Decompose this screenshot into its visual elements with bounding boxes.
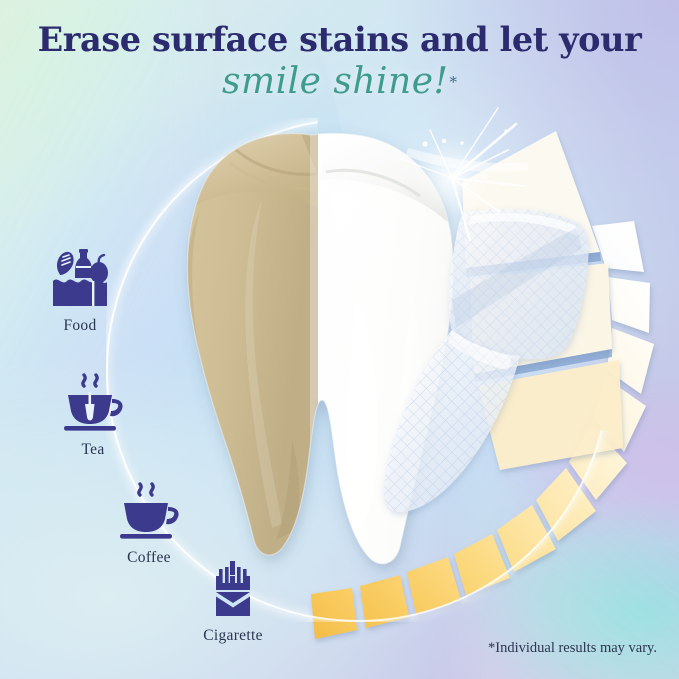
headline-asterisk: * — [450, 73, 458, 91]
food-icon — [49, 248, 111, 308]
tea-icon — [60, 370, 126, 432]
cigarette-label: Cigarette — [188, 627, 278, 645]
stain-source-tea: Tea — [50, 370, 136, 459]
strip-panel-upper — [449, 209, 589, 360]
stain-source-food: Food — [38, 248, 122, 335]
coffee-icon — [117, 480, 181, 540]
stain-source-cigarette: Cigarette — [188, 560, 278, 645]
headline-line-2: smile shine! — [222, 61, 449, 102]
whitening-strips-ad: Erase surface stains and let your smile … — [0, 0, 679, 679]
stain-source-coffee: Coffee — [104, 480, 194, 567]
coffee-label: Coffee — [104, 549, 194, 567]
headline-line-2-wrap: smile shine!* — [0, 64, 679, 100]
headline-block: Erase surface stains and let your smile … — [0, 22, 679, 100]
headline-line-1: Erase surface stains and let your — [0, 22, 679, 57]
disclaimer-text: *Individual results may vary. — [488, 640, 657, 657]
food-label: Food — [38, 317, 122, 335]
cigarette-icon — [204, 560, 262, 618]
tea-label: Tea — [50, 441, 136, 459]
